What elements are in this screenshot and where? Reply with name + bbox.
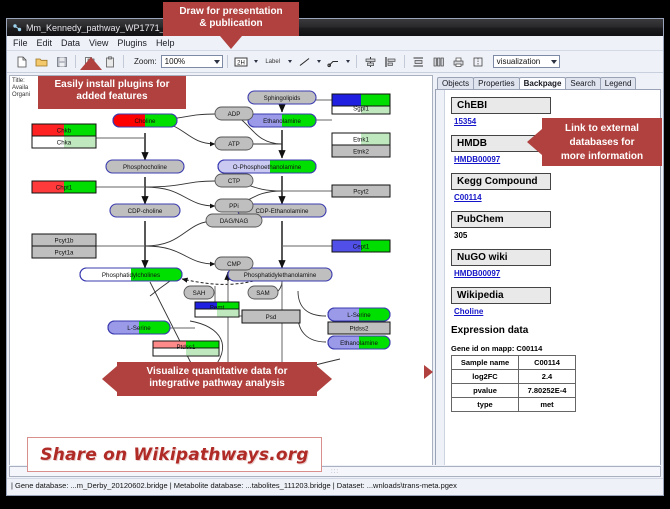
svg-text:Sphingolipids: Sphingolipids (264, 95, 301, 102)
callout-visualize-line2: integrative pathway analysis (123, 378, 311, 390)
interaction-tool-icon[interactable] (324, 52, 343, 71)
svg-text:Ethanolamine: Ethanolamine (263, 118, 301, 125)
callout-plugins-line2: added features (44, 91, 180, 103)
tab-objects[interactable]: Objects (437, 77, 474, 89)
svg-text:Phosphatidylethanolamine: Phosphatidylethanolamine (244, 272, 317, 279)
backpage-heading-kegg: Kegg Compound (451, 173, 551, 190)
pathway-canvas[interactable]: Title: Availa Organi (9, 75, 433, 482)
sidebar-toggle-icon[interactable] (469, 52, 488, 71)
svg-text:Cept1: Cept1 (353, 244, 370, 251)
pathvisio-window: Mm_Kennedy_pathway_WP1771_45176.gpml Fil… (6, 18, 664, 496)
callout-plugins-line1: Easily install plugins for (44, 79, 180, 91)
svg-text:2H: 2H (237, 60, 245, 66)
svg-text:ATP: ATP (228, 141, 240, 148)
backpage-link-wikipedia[interactable]: Choline (454, 307, 654, 316)
svg-text:Pcyt1b: Pcyt1b (55, 238, 74, 245)
toolbar-separator (404, 55, 405, 68)
visualization-combo[interactable]: visualization (493, 55, 560, 68)
zoom-label: Zoom: (134, 57, 157, 66)
backpage-heading-wikipedia: Wikipedia (451, 287, 551, 304)
callout-visualize-line1: Visualize quantitative data for (123, 366, 311, 378)
svg-text:Ethanolamine: Ethanolamine (340, 340, 378, 347)
menu-bar: File Edit Data View Plugins Help (7, 36, 663, 51)
expression-table: Sample name C00114 log2FC 2.4 pvalue 7.8… (451, 355, 576, 412)
callout-expression-arrow (424, 365, 433, 379)
callout-links-line1: Link to external (548, 122, 656, 136)
pathway-graphic: Sphingolipids Choline Ethanolamine Phosp… (10, 76, 432, 481)
svg-text:Ptdss1: Ptdss1 (177, 344, 196, 351)
svg-text:CDP-choline: CDP-choline (128, 208, 163, 215)
callout-draw-arrow (220, 36, 242, 49)
expression-data-title: Expression data (451, 325, 654, 336)
callout-visualize-arrow (102, 366, 117, 392)
svg-text:DAG/NAG: DAG/NAG (220, 218, 249, 225)
label-tool-icon[interactable]: Label (261, 52, 285, 71)
tab-properties[interactable]: Properties (473, 77, 519, 89)
align-center-icon[interactable] (361, 52, 380, 71)
svg-text:CDP-Ethanolamine: CDP-Ethanolamine (256, 208, 310, 215)
svg-text:SAM: SAM (256, 290, 269, 297)
toolbar-separator (227, 55, 228, 68)
svg-text:Sgpl1: Sgpl1 (353, 105, 369, 112)
datanode-icon[interactable]: 2H (232, 52, 251, 71)
chevron-down-icon[interactable] (254, 60, 258, 63)
backpage-heading-nugo: NuGO wiki (451, 249, 551, 266)
svg-text:CMP: CMP (227, 261, 241, 268)
tool-bar: Zoom: 100% 2H Label (7, 51, 663, 73)
callout-share-box: Share on Wikipathways.org (27, 437, 322, 472)
menu-item-help[interactable]: Help (156, 38, 175, 48)
table-row: Sample name C00114 (452, 356, 576, 370)
backpage-link-nugo[interactable]: HMDB00097 (454, 269, 654, 278)
svg-text:Pemt: Pemt (210, 305, 225, 312)
chevron-down-icon[interactable] (288, 60, 292, 63)
svg-text:Ptdss2: Ptdss2 (350, 326, 369, 333)
svg-text:Chkb: Chkb (57, 128, 72, 135)
svg-text:PPi: PPi (229, 203, 239, 210)
table-cell-value: met (519, 398, 576, 412)
callout-visualize: Visualize quantitative data for integrat… (117, 362, 317, 396)
svg-text:Etnk1: Etnk1 (353, 137, 369, 144)
table-cell-key: Sample name (452, 356, 519, 370)
svg-text:Pcyt1a: Pcyt1a (55, 250, 74, 257)
backpage-value-pubchem: 305 (454, 231, 654, 240)
svg-text:Pcyt2: Pcyt2 (353, 189, 369, 196)
table-cell-value: 2.4 (519, 370, 576, 384)
gene-id-line: Gene id on mapp: C00114 (451, 344, 654, 353)
backpage-rail (436, 90, 445, 465)
svg-text:Chka: Chka (57, 140, 72, 147)
tab-search[interactable]: Search (565, 77, 600, 89)
distribute-vertical-icon[interactable] (409, 52, 428, 71)
menu-item-edit[interactable]: Edit (37, 38, 53, 48)
open-file-icon[interactable] (32, 52, 51, 71)
callout-links: Link to external databases for more info… (542, 118, 662, 166)
chevron-down-icon (551, 60, 557, 64)
table-cell-key: pvalue (452, 384, 519, 398)
table-row: type met (452, 398, 576, 412)
svg-text:CTP: CTP (228, 178, 240, 185)
zoom-combo[interactable]: 100% (161, 55, 223, 68)
tab-backpage[interactable]: Backpage (519, 77, 567, 89)
callout-draw: Draw for presentation & publication (163, 2, 299, 36)
toolbar-separator (356, 55, 357, 68)
callout-links-line3: more information (548, 150, 656, 164)
svg-text:Phosphocholine: Phosphocholine (123, 164, 168, 171)
svg-text:SAH: SAH (193, 290, 206, 297)
paste-icon[interactable] (100, 52, 119, 71)
line-tool-icon[interactable] (295, 52, 314, 71)
app-icon (12, 23, 22, 33)
save-file-icon[interactable] (52, 52, 71, 71)
label-tool-text: Label (265, 59, 280, 65)
new-file-icon[interactable] (12, 52, 31, 71)
callout-links-arrow (527, 129, 542, 155)
svg-text:L-Serine: L-Serine (347, 312, 371, 319)
svg-text:O-Phosphoethanolamine: O-Phosphoethanolamine (233, 164, 302, 171)
toolbar-separator (123, 55, 124, 68)
title-bar: Mm_Kennedy_pathway_WP1771_45176.gpml (7, 19, 663, 36)
tab-legend[interactable]: Legend (600, 77, 637, 89)
table-cell-key: type (452, 398, 519, 412)
svg-text:Chpt1: Chpt1 (56, 185, 73, 192)
backpage-heading-chebi: ChEBI (451, 97, 551, 114)
svg-text:Etnk2: Etnk2 (353, 149, 369, 156)
align-left-icon[interactable] (381, 52, 400, 71)
menu-item-data[interactable]: Data (61, 38, 80, 48)
callout-draw-line1: Draw for presentation (169, 6, 293, 18)
svg-text:L-Serine: L-Serine (127, 325, 151, 332)
callout-draw-line2: & publication (169, 18, 293, 30)
chevron-down-icon[interactable] (346, 60, 350, 63)
table-row: log2FC 2.4 (452, 370, 576, 384)
status-text: | Gene database: ...m_Derby_20120602.bri… (7, 478, 663, 492)
menu-item-file[interactable]: File (13, 38, 28, 48)
zoom-value: 100% (165, 57, 185, 66)
toolbar-separator (75, 55, 76, 68)
backpage-link-kegg[interactable]: C00114 (454, 193, 654, 202)
svg-text:ADP: ADP (228, 111, 241, 118)
backpage-heading-pubchem: PubChem (451, 211, 551, 228)
chevron-down-icon[interactable] (317, 60, 321, 63)
svg-text:Psd: Psd (266, 314, 277, 321)
callout-plugins-arrow (80, 57, 102, 70)
visualization-value: visualization (497, 57, 541, 66)
callout-share-text: Share on Wikipathways.org (40, 445, 308, 465)
menu-item-plugins[interactable]: Plugins (117, 38, 147, 48)
menu-item-view[interactable]: View (89, 38, 108, 48)
callout-visualize-arrow-right (317, 366, 332, 392)
table-cell-value: 7.80252E-4 (519, 384, 576, 398)
table-cell-value: C00114 (519, 356, 576, 370)
table-row: pvalue 7.80252E-4 (452, 384, 576, 398)
svg-text:Phosphatidylcholines: Phosphatidylcholines (102, 272, 160, 279)
table-cell-key: log2FC (452, 370, 519, 384)
chevron-down-icon (214, 60, 220, 64)
callout-links-line2: databases for (548, 136, 656, 150)
print-icon[interactable] (449, 52, 468, 71)
svg-text:Choline: Choline (135, 118, 157, 125)
callout-plugins: Easily install plugins for added feature… (38, 75, 186, 109)
distribute-horizontal-icon[interactable] (429, 52, 448, 71)
side-panel-tabs: Objects Properties Backpage Search Legen… (435, 75, 661, 89)
